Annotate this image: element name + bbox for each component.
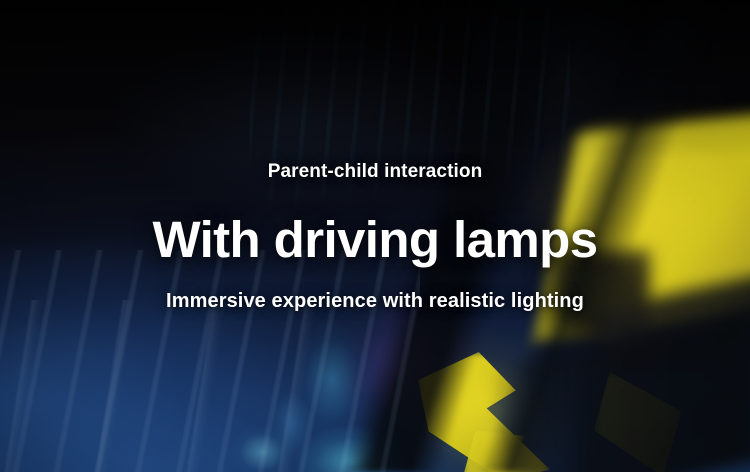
hero-subline: Immersive experience with realistic ligh… xyxy=(166,291,584,311)
hero-banner: Parent-child interaction With driving la… xyxy=(0,0,750,472)
hero-headline: With driving lamps xyxy=(153,214,598,265)
hero-eyebrow: Parent-child interaction xyxy=(268,162,483,181)
hero-text-block: Parent-child interaction With driving la… xyxy=(0,0,750,472)
